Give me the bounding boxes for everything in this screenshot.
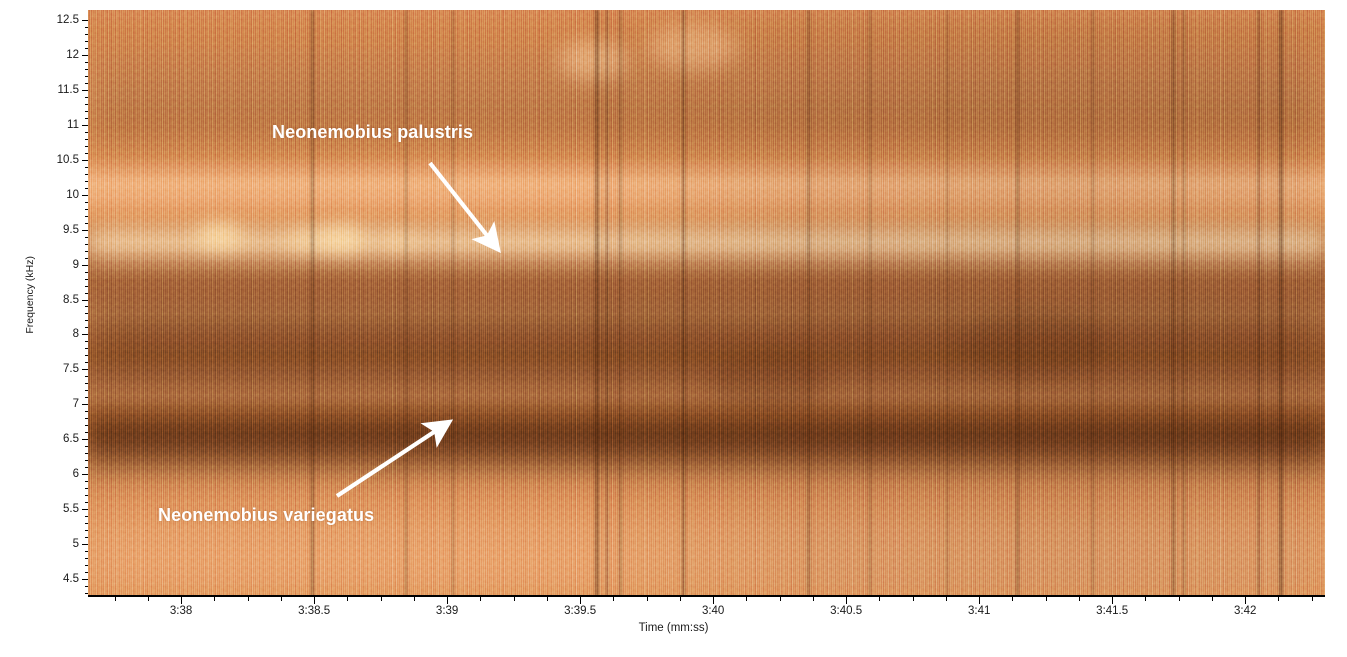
y-tick-minor [85, 146, 88, 147]
y-tick [82, 509, 88, 510]
y-tick-minor [85, 188, 88, 189]
y-tick-minor [85, 502, 88, 503]
y-tick-minor [85, 390, 88, 391]
y-tick-minor [85, 313, 88, 314]
x-tick-minor [1145, 597, 1146, 601]
y-tick [82, 20, 88, 21]
y-tick-minor [85, 327, 88, 328]
y-tick-minor [85, 565, 88, 566]
y-tick-minor [85, 279, 88, 280]
x-tick-minor [514, 597, 515, 601]
y-tick-minor [85, 111, 88, 112]
y-tick-minor [85, 251, 88, 252]
y-tick-label: 5.5 [63, 503, 79, 515]
x-tick-minor [1212, 597, 1213, 601]
y-tick-minor [85, 558, 88, 559]
x-tick-label: 3:38 [170, 605, 192, 617]
y-tick-minor [85, 572, 88, 573]
x-tick-label: 3:40 [702, 605, 724, 617]
y-tick-minor [85, 83, 88, 84]
x-tick-minor [1278, 597, 1279, 601]
y-tick-minor [85, 586, 88, 587]
y-tick-label: 7.5 [63, 363, 79, 375]
y-tick [82, 160, 88, 161]
x-tick-label: 3:39 [436, 605, 458, 617]
y-tick-minor [85, 551, 88, 552]
y-tick-minor [85, 341, 88, 342]
y-tick-label: 6 [73, 468, 79, 480]
y-tick-minor [85, 453, 88, 454]
y-tick-label: 11.5 [57, 84, 79, 96]
x-tick-minor [1012, 597, 1013, 601]
y-tick-minor [85, 355, 88, 356]
x-tick-minor [680, 597, 681, 601]
x-tick-minor [347, 597, 348, 601]
x-tick-minor [115, 597, 116, 601]
x-tick-label: 3:41.5 [1096, 605, 1128, 617]
y-tick [82, 579, 88, 580]
y-tick-minor [85, 432, 88, 433]
y-axis-title: Frequency (kHz) [24, 256, 36, 334]
x-tick-minor [281, 597, 282, 601]
y-tick-minor [85, 174, 88, 175]
x-tick-minor [214, 597, 215, 601]
x-axis-title: Time (mm:ss) [0, 622, 1347, 634]
y-tick [82, 439, 88, 440]
x-tick [181, 597, 182, 604]
y-tick-minor [85, 383, 88, 384]
y-tick-minor [85, 48, 88, 49]
y-tick-minor [85, 523, 88, 524]
x-tick [580, 597, 581, 604]
x-tick [1112, 597, 1113, 604]
x-tick-minor [780, 597, 781, 601]
y-tick-label: 12.5 [57, 14, 79, 26]
y-tick [82, 404, 88, 405]
y-tick-minor [85, 286, 88, 287]
x-tick-minor [480, 597, 481, 601]
y-tick-label: 10 [66, 189, 79, 201]
x-tick [846, 597, 847, 604]
y-tick [82, 125, 88, 126]
y-tick-minor [85, 460, 88, 461]
x-tick-minor [613, 597, 614, 601]
x-tick-label: 3:42 [1234, 605, 1256, 617]
y-tick-minor [85, 425, 88, 426]
y-tick-minor [85, 209, 88, 210]
x-tick-label: 3:41 [968, 605, 990, 617]
x-tick [447, 597, 448, 604]
y-tick-minor [85, 132, 88, 133]
y-tick-label: 8 [73, 328, 79, 340]
x-tick-minor [647, 597, 648, 601]
y-tick-minor [85, 411, 88, 412]
y-tick [82, 544, 88, 545]
y-tick-minor [85, 258, 88, 259]
y-tick [82, 55, 88, 56]
y-tick-minor [85, 118, 88, 119]
x-tick-minor [1046, 597, 1047, 601]
y-tick-minor [85, 418, 88, 419]
x-tick [713, 597, 714, 604]
y-tick-minor [85, 34, 88, 35]
y-tick-minor [85, 530, 88, 531]
x-tick-minor [148, 597, 149, 601]
y-tick-minor [85, 97, 88, 98]
y-tick-label: 9 [73, 259, 79, 271]
y-tick-label: 4.5 [63, 573, 79, 585]
y-tick-label: 9.5 [63, 224, 79, 236]
x-tick-minor [946, 597, 947, 601]
x-tick-label: 3:38.5 [298, 605, 330, 617]
x-tick-minor [913, 597, 914, 601]
y-tick-label: 6.5 [63, 433, 79, 445]
y-tick-minor [85, 537, 88, 538]
y-tick-minor [85, 153, 88, 154]
x-tick-minor [381, 597, 382, 601]
y-tick [82, 474, 88, 475]
y-tick-minor [85, 593, 88, 594]
y-tick-minor [85, 216, 88, 217]
x-tick-minor [414, 597, 415, 601]
y-tick-minor [85, 348, 88, 349]
y-tick-minor [85, 202, 88, 203]
y-tick-minor [85, 446, 88, 447]
y-tick-minor [85, 306, 88, 307]
x-tick-minor [1179, 597, 1180, 601]
y-tick-minor [85, 362, 88, 363]
y-tick-minor [85, 139, 88, 140]
x-tick-minor [248, 597, 249, 601]
y-tick-minor [85, 495, 88, 496]
x-tick [979, 597, 980, 604]
x-tick-minor [547, 597, 548, 601]
y-tick-label: 10.5 [57, 154, 79, 166]
y-axis: Frequency (kHz) 12.51211.51110.5109.598.… [0, 0, 88, 606]
y-tick-minor [85, 41, 88, 42]
y-tick-minor [85, 244, 88, 245]
y-tick-minor [85, 376, 88, 377]
x-tick-minor [1312, 597, 1313, 601]
y-tick [82, 90, 88, 91]
y-tick-minor [85, 69, 88, 70]
y-tick-minor [85, 27, 88, 28]
y-tick-minor [85, 272, 88, 273]
x-tick-minor [813, 597, 814, 601]
y-tick-minor [85, 223, 88, 224]
y-tick-minor [85, 516, 88, 517]
y-tick-label: 8.5 [63, 294, 79, 306]
y-tick-minor [85, 293, 88, 294]
y-tick-minor [85, 397, 88, 398]
y-tick-minor [85, 481, 88, 482]
y-tick-minor [85, 104, 88, 105]
x-tick-label: 3:40.5 [830, 605, 862, 617]
x-tick [1245, 597, 1246, 604]
y-tick-minor [85, 76, 88, 77]
y-tick-minor [85, 62, 88, 63]
x-tick-minor [879, 597, 880, 601]
y-tick-minor [85, 488, 88, 489]
y-tick [82, 300, 88, 301]
y-tick [82, 265, 88, 266]
annotation-label-palustris: Neonemobius palustris [272, 122, 473, 143]
y-tick-minor [85, 320, 88, 321]
x-tick-minor [746, 597, 747, 601]
x-tick-minor [1079, 597, 1080, 601]
y-tick-minor [85, 467, 88, 468]
spectrogram-figure: Neonemobius palustris Neonemobius varieg… [0, 0, 1347, 657]
y-tick-label: 12 [66, 49, 79, 61]
y-tick [82, 369, 88, 370]
y-tick [82, 334, 88, 335]
y-tick-minor [85, 237, 88, 238]
y-tick-minor [85, 167, 88, 168]
annotation-label-variegatus: Neonemobius variegatus [158, 505, 374, 526]
y-tick [82, 195, 88, 196]
y-tick-label: 5 [73, 538, 79, 550]
y-tick-label: 7 [73, 398, 79, 410]
x-tick [314, 597, 315, 604]
y-tick-label: 11 [67, 119, 79, 131]
y-tick [82, 230, 88, 231]
y-tick-minor [85, 181, 88, 182]
x-tick-label: 3:39.5 [564, 605, 596, 617]
